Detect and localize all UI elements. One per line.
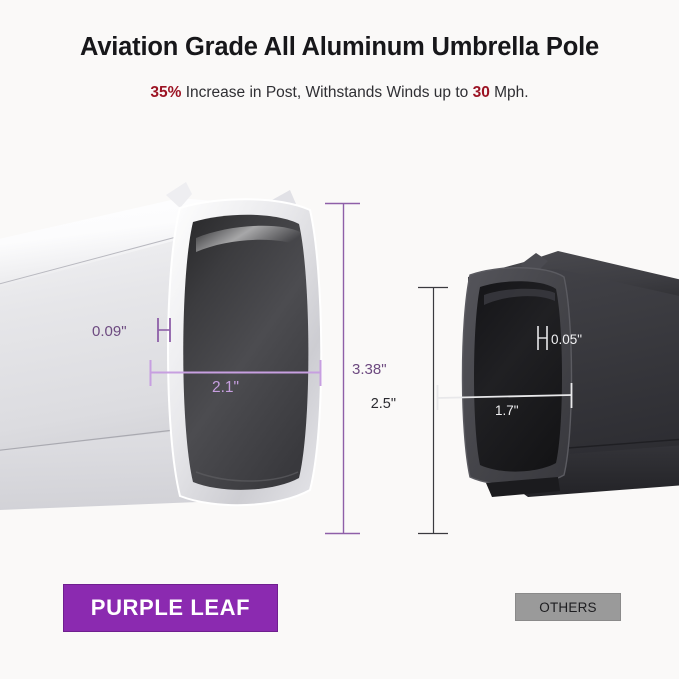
left-pole-cavity xyxy=(183,215,308,490)
subtitle-wind-speed-value: 30 xyxy=(473,84,490,101)
others-badge[interactable]: OTHERS xyxy=(515,593,621,621)
others-pole-illustration xyxy=(408,235,679,525)
comparison-infographic: Aviation Grade All Aluminum Umbrella Pol… xyxy=(0,0,679,679)
product-comparison-scene xyxy=(0,140,679,560)
page-title: Aviation Grade All Aluminum Umbrella Pol… xyxy=(0,33,679,62)
others-badge-label: OTHERS xyxy=(539,600,596,615)
purple-leaf-pole-illustration xyxy=(0,160,340,560)
right-pole-cavity xyxy=(474,281,562,471)
subtitle-middle-text: Increase in Post, Withstands Winds up to xyxy=(181,84,472,101)
purple-leaf-badge-label: PURPLE LEAF xyxy=(91,595,250,621)
purple-leaf-badge[interactable]: PURPLE LEAF xyxy=(63,584,278,632)
subtitle-percent-value: 35% xyxy=(150,84,181,101)
page-subtitle: 35% Increase in Post, Withstands Winds u… xyxy=(0,84,679,102)
subtitle-unit-text: Mph. xyxy=(490,84,529,101)
